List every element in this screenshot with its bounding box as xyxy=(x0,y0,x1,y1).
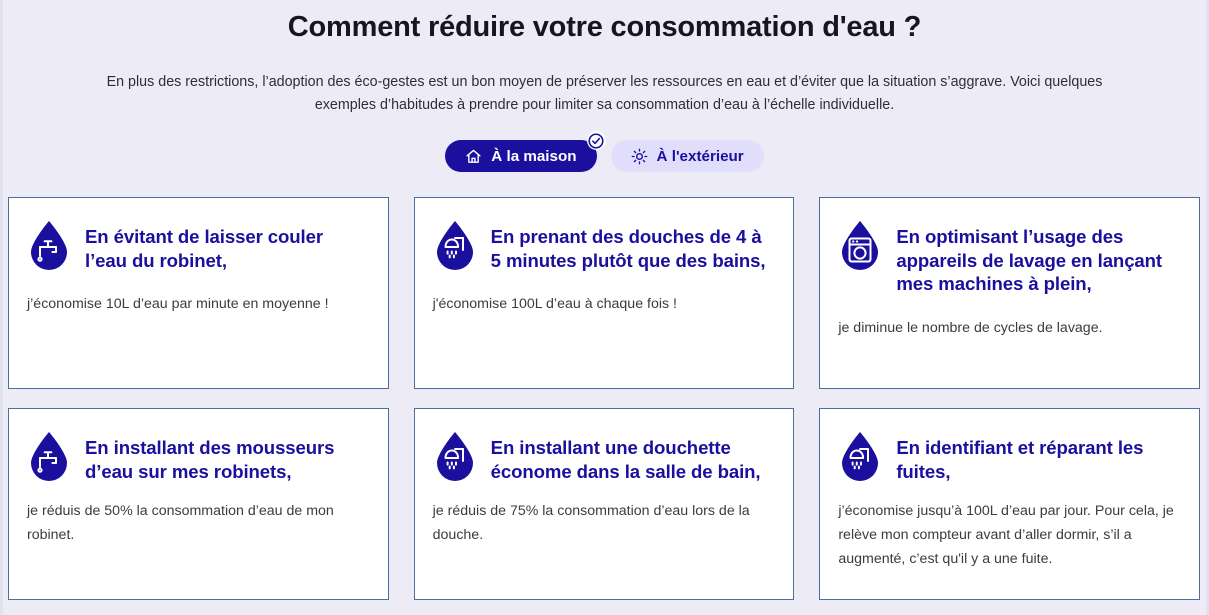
home-icon xyxy=(465,148,482,165)
left-edge-strip xyxy=(0,0,3,615)
card-title: En optimisant l’usage des appareils de l… xyxy=(896,218,1181,296)
water-drop-shower-icon xyxy=(433,431,477,481)
page-header: Comment réduire votre consommation d'eau… xyxy=(0,0,1209,117)
water-drop-faucet-icon xyxy=(27,220,71,270)
page-root: Comment réduire votre consommation d'eau… xyxy=(0,0,1209,615)
card-title: En installant une douchette économe dans… xyxy=(491,429,776,483)
eco-gesture-card[interactable]: En installant des mousseurs d’eau sur me… xyxy=(8,408,389,600)
water-drop-faucet-icon xyxy=(27,431,71,481)
card-head: En identifiant et réparant les fuites, xyxy=(838,429,1181,483)
tab-a-l-exterieur[interactable]: À l'extérieur xyxy=(611,140,764,172)
intro-paragraph: En plus des restrictions, l’adoption des… xyxy=(100,47,1110,117)
card-head: En prenant des douches de 4 à 5 minutes … xyxy=(433,218,776,272)
card-title: En évitant de laisser couler l’eau du ro… xyxy=(85,218,370,272)
card-body: j’économise 10L d’eau par minute en moye… xyxy=(27,292,370,316)
card-title: En installant des mousseurs d’eau sur me… xyxy=(85,429,370,483)
eco-gesture-card[interactable]: En évitant de laisser couler l’eau du ro… xyxy=(8,197,389,389)
card-title: En identifiant et réparant les fuites, xyxy=(896,429,1181,483)
tab-label: À l'extérieur xyxy=(657,148,744,165)
card-body: j’économise jusqu’à 100L d’eau par jour.… xyxy=(838,499,1181,571)
card-head: En installant des mousseurs d’eau sur me… xyxy=(27,429,370,483)
card-body: je réduis de 75% la consommation d’eau l… xyxy=(433,499,776,547)
eco-gesture-card[interactable]: En prenant des douches de 4 à 5 minutes … xyxy=(414,197,795,389)
water-drop-shower-icon xyxy=(433,220,477,270)
eco-gesture-card[interactable]: En optimisant l’usage des appareils de l… xyxy=(819,197,1200,389)
eco-gesture-card-grid: En évitant de laisser couler l’eau du ro… xyxy=(8,197,1200,600)
check-circle-icon xyxy=(587,131,606,150)
card-head: En installant une douchette économe dans… xyxy=(433,429,776,483)
sun-icon xyxy=(631,148,648,165)
eco-gesture-card[interactable]: En identifiant et réparant les fuites, j… xyxy=(819,408,1200,600)
card-head: En optimisant l’usage des appareils de l… xyxy=(838,218,1181,296)
water-drop-shower-icon xyxy=(838,431,882,481)
water-drop-washing-machine-icon xyxy=(838,220,882,270)
card-title: En prenant des douches de 4 à 5 minutes … xyxy=(491,218,776,272)
tab-a-la-maison[interactable]: À la maison xyxy=(445,140,596,172)
card-body: je réduis de 50% la consommation d’eau d… xyxy=(27,499,370,547)
tab-bar: À la maison À l'extérieur xyxy=(0,139,1209,173)
eco-gesture-card[interactable]: En installant une douchette économe dans… xyxy=(414,408,795,600)
card-head: En évitant de laisser couler l’eau du ro… xyxy=(27,218,370,272)
card-body: j'économise 100L d’eau à chaque fois ! xyxy=(433,292,776,316)
card-body: je diminue le nombre de cycles de lavage… xyxy=(838,316,1181,340)
page-title: Comment réduire votre consommation d'eau… xyxy=(0,4,1209,47)
tab-label: À la maison xyxy=(491,148,576,165)
